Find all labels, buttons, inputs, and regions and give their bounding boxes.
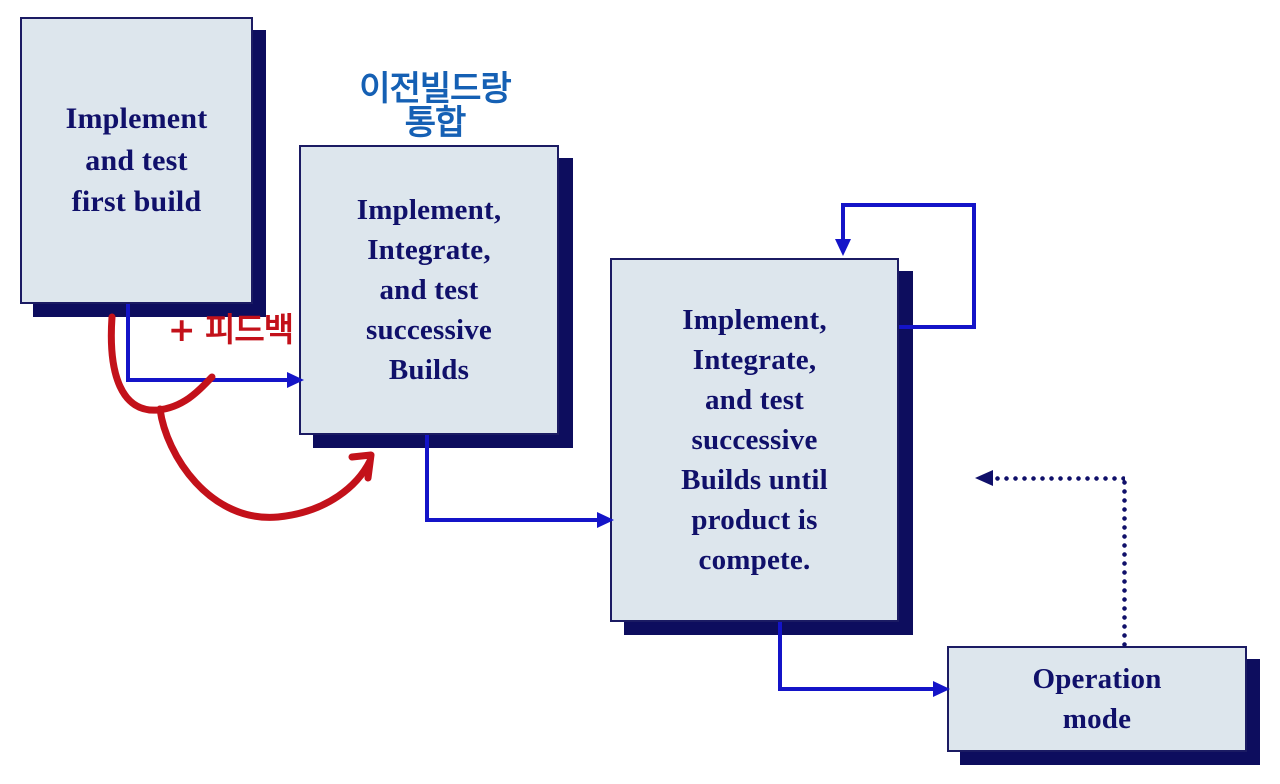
process-box-operation-mode-label: Operation mode: [1032, 659, 1161, 739]
connector-until-complete-to-operation-horizontal: [778, 687, 941, 691]
connector-successive-to-until-complete-arrowhead: [597, 512, 614, 528]
process-box-operation-mode[interactable]: Operation mode: [947, 646, 1247, 752]
connector-operation-feedback-vertical: [1122, 478, 1127, 648]
annotation-plus-feedback: + 피드백: [158, 313, 303, 346]
diagram-canvas: Implement and test first build Implement…: [0, 0, 1280, 784]
connector-until-complete-to-operation-vertical: [778, 622, 782, 691]
connector-operation-feedback-arrowhead: [975, 470, 993, 486]
process-box-builds-until-complete-label: Implement, Integrate, and test successiv…: [681, 300, 828, 580]
process-box-first-build-label: Implement and test first build: [66, 98, 208, 222]
process-box-builds-until-complete[interactable]: Implement, Integrate, and test successiv…: [610, 258, 899, 622]
annotation-integrate-previous-build: 이전빌드랑 통합: [355, 72, 515, 140]
connector-operation-feedback-horizontal: [993, 476, 1125, 481]
connector-self-loop-right: [972, 203, 976, 329]
connector-self-loop-top: [841, 203, 976, 207]
connector-self-loop-left: [841, 203, 845, 241]
connector-until-complete-to-operation-arrowhead: [933, 681, 950, 697]
connector-successive-to-until-complete-horizontal: [425, 518, 605, 522]
connector-successive-to-until-complete-vertical: [425, 435, 429, 522]
process-box-first-build[interactable]: Implement and test first build: [20, 17, 253, 304]
connector-self-loop-bottom: [899, 325, 976, 329]
connector-self-loop-arrowhead: [835, 239, 851, 256]
